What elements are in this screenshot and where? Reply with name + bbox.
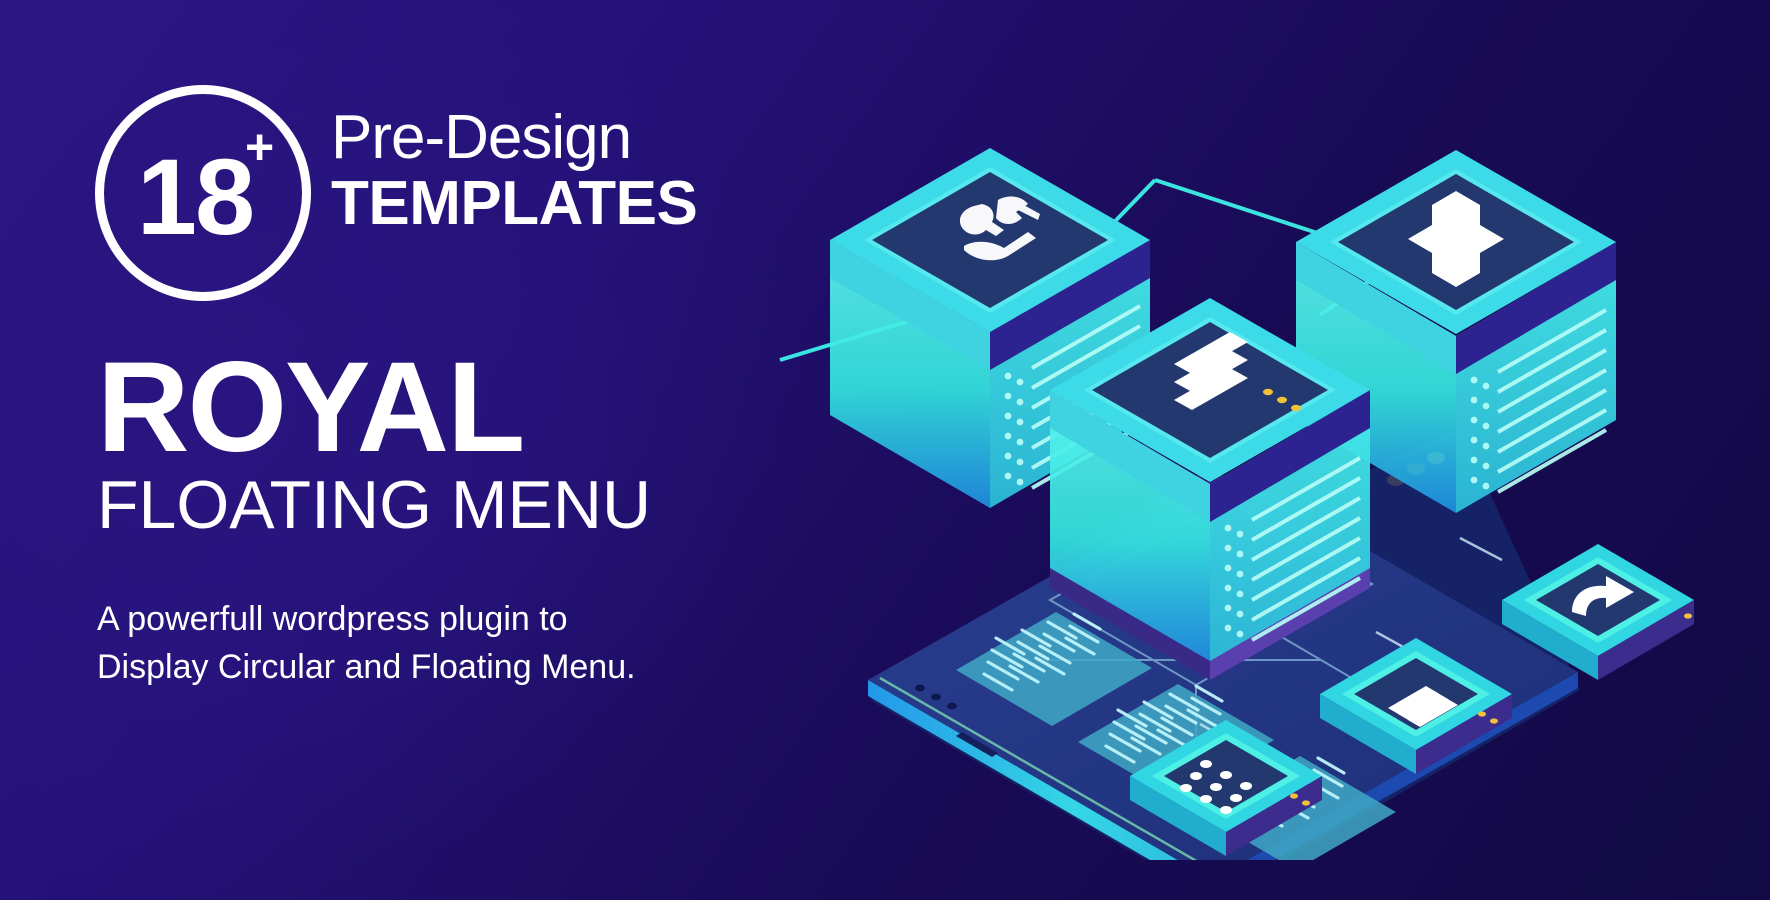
badge-number-wrap: 18 — [95, 85, 311, 301]
badge-plus-superscript: + — [245, 122, 274, 172]
description-line-1: A powerfull wordpress plugin to — [97, 595, 636, 643]
promo-banner: 18 + Pre-Design TEMPLATES ROYAL FLOATING… — [0, 0, 1770, 900]
isometric-illustration — [760, 60, 1770, 860]
badge-text-block: Pre-Design TEMPLATES — [331, 108, 697, 235]
badge-line-templates: TEMPLATES — [331, 173, 697, 235]
badge-line-pre-design: Pre-Design — [331, 108, 697, 169]
templates-badge: 18 + Pre-Design TEMPLATES — [95, 80, 795, 310]
badge-number: 18 — [137, 143, 253, 251]
text-column: 18 + Pre-Design TEMPLATES ROYAL FLOATING… — [95, 80, 795, 720]
description-line-2: Display Circular and Floating Menu. — [97, 643, 636, 691]
page-subtitle: FLOATING MENU — [97, 470, 651, 541]
description-block: A powerfull wordpress plugin to Display … — [97, 595, 636, 692]
headline-block: ROYAL FLOATING MENU — [97, 348, 651, 542]
page-title: ROYAL — [97, 348, 651, 468]
